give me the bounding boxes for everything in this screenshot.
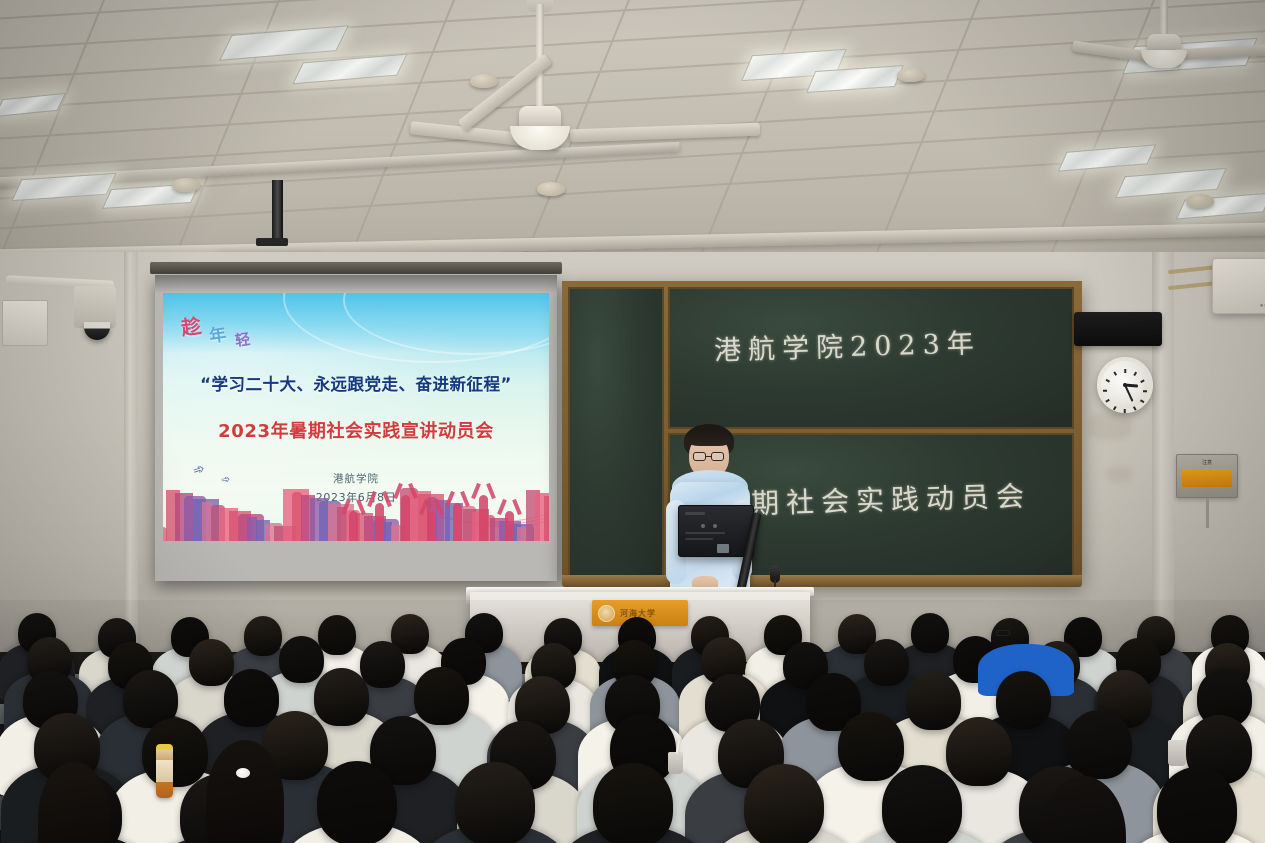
crowd-figure-silhouette: [479, 495, 488, 541]
ceiling: EPSON: [0, 0, 1265, 268]
audience-member-head: [360, 641, 405, 688]
crowd-figure-silhouette: [349, 511, 358, 541]
projection-screen[interactable]: 趁 年 轻 “学习二十大、永远跟党走、奋进新征程” 2023年暑期社会实践宣讲动…: [155, 275, 557, 581]
audience-member-head: [744, 764, 824, 843]
screen-roller-bar: [150, 262, 562, 274]
blackboard: 港航学院2023年 暑期社会实践动员会: [562, 281, 1082, 583]
slide-subtitle: 2023年暑期社会实践宣讲动员会: [163, 417, 549, 443]
clock-tick: [1103, 390, 1107, 392]
glasses-lens-left: [693, 452, 706, 461]
chalk-tray: [562, 575, 1082, 587]
laptop-screen-thumb: [717, 544, 729, 553]
smoke-detector-icon: [897, 68, 925, 82]
clock-tick: [1133, 372, 1136, 376]
wall-equipment-box: [2, 300, 48, 346]
classroom-photo: EPSON 趁 年 轻 “学习二十大、永远跟党走、奋: [0, 0, 1265, 843]
glasses-bridge: [706, 456, 711, 457]
clock-tick: [1106, 379, 1110, 382]
slide-decor-logo: 趁 年 轻: [179, 309, 299, 351]
wall-stain: [1088, 412, 1132, 440]
warning-sign-strip: [1182, 469, 1232, 487]
clock-tick: [1106, 399, 1110, 402]
smoke-detector-icon: [1186, 194, 1214, 208]
warning-sign-icon[interactable]: 注意: [1176, 454, 1238, 498]
screen-surface: 趁 年 轻 “学习二十大、永远跟党走、奋进新征程” 2023年暑期社会实践宣讲动…: [155, 275, 557, 581]
audience-member-head: [318, 615, 356, 655]
skyline-shape: [544, 496, 549, 541]
paper-cup-icon[interactable]: [668, 752, 683, 774]
clock-face: [1106, 366, 1144, 404]
smoke-detector-icon: [172, 178, 200, 192]
presenter-fringe: [686, 428, 732, 446]
clock-center-pin: [1123, 383, 1127, 387]
audience-member-head: [189, 639, 234, 686]
laptop-screen-dot: [701, 524, 705, 528]
speaker-icon: [1074, 312, 1162, 346]
crowd-figure-silhouette: [401, 495, 410, 541]
audience-member-head: [911, 613, 949, 653]
audience-member-head: [593, 763, 673, 843]
clock-tick: [1140, 399, 1144, 402]
slide-decor-char: 年: [207, 320, 227, 347]
ac-brand-mark: ●●: [1260, 303, 1265, 309]
laptop-screen-line: [685, 538, 713, 540]
blackboard-side-panel: [568, 287, 664, 577]
audience-member-head: [906, 672, 961, 730]
glasses-icon: [996, 630, 1010, 636]
clock-tick: [1113, 406, 1116, 410]
glasses-icon: [693, 452, 727, 462]
clock-tick: [1113, 372, 1116, 376]
laptop-screen-line: [685, 512, 705, 515]
audience-area: [0, 600, 1265, 843]
clock-tick: [1140, 379, 1144, 382]
air-conditioner-icon: ●●: [1212, 258, 1265, 314]
ceiling-fan-icon: [1104, 0, 1265, 110]
audience-member-head: [838, 712, 904, 781]
audience-member-head: [946, 717, 1012, 786]
blackboard-line-1: 港航学院2023年: [714, 321, 982, 367]
glasses-lens-right: [711, 452, 724, 461]
audience-member-head: [142, 718, 208, 787]
smoke-detector-icon: [537, 182, 565, 196]
laptop-screen-line: [685, 532, 725, 534]
audience-member-head: [455, 762, 535, 843]
crowd-figure-silhouette: [427, 511, 436, 541]
crowd-figure-silhouette: [453, 503, 462, 541]
laptop-screen-dot: [713, 524, 717, 528]
slide-skyline-silhouette: [163, 477, 549, 541]
audience-member-head: [864, 639, 909, 686]
slide-decor-char: 趁: [179, 310, 203, 342]
laptop-icon[interactable]: [678, 505, 754, 557]
clock-tick: [1124, 369, 1126, 373]
clock-tick: [1143, 390, 1147, 392]
screen-top-shadow: [155, 275, 557, 293]
clock-tick: [1124, 409, 1126, 413]
audience-member-head: [224, 669, 279, 727]
audience-member-head: [279, 636, 324, 683]
wall-clock-icon: [1097, 357, 1153, 413]
crowd-figure-silhouette: [375, 503, 384, 541]
audience-member-head: [244, 616, 282, 656]
clock-tick: [1133, 406, 1136, 410]
tea-bottle-icon[interactable]: [156, 744, 173, 798]
audience-member-head: [882, 765, 962, 843]
warning-sign-caption: 注意: [1177, 459, 1237, 466]
hair-clip-icon: [236, 768, 250, 778]
presentation-slide: 趁 年 轻 “学习二十大、永远跟党走、奋进新征程” 2023年暑期社会实践宣讲动…: [163, 293, 549, 541]
wall-column-edge: [124, 252, 138, 652]
projector-arm: [256, 238, 288, 246]
audience-member-head: [314, 668, 369, 726]
slide-decor-char: 轻: [234, 328, 252, 351]
audience-member-head: [996, 671, 1051, 729]
bottle-label: [156, 760, 173, 782]
projector-mount: [272, 180, 283, 242]
slide-title: “学习二十大、永远跟党走、奋进新征程”: [163, 371, 549, 395]
crowd-figure-silhouette: [505, 511, 514, 541]
wall-stain: [1106, 466, 1132, 482]
warning-sign-post: [1206, 498, 1209, 528]
audience-member-head: [1157, 767, 1237, 843]
water-cup-icon[interactable]: [1168, 740, 1186, 766]
audience-member-head: [317, 761, 397, 843]
audience-member-head: [414, 667, 469, 725]
blackboard-upper-panel: 港航学院2023年: [668, 287, 1074, 429]
ceiling-fan-icon: [430, 0, 750, 164]
